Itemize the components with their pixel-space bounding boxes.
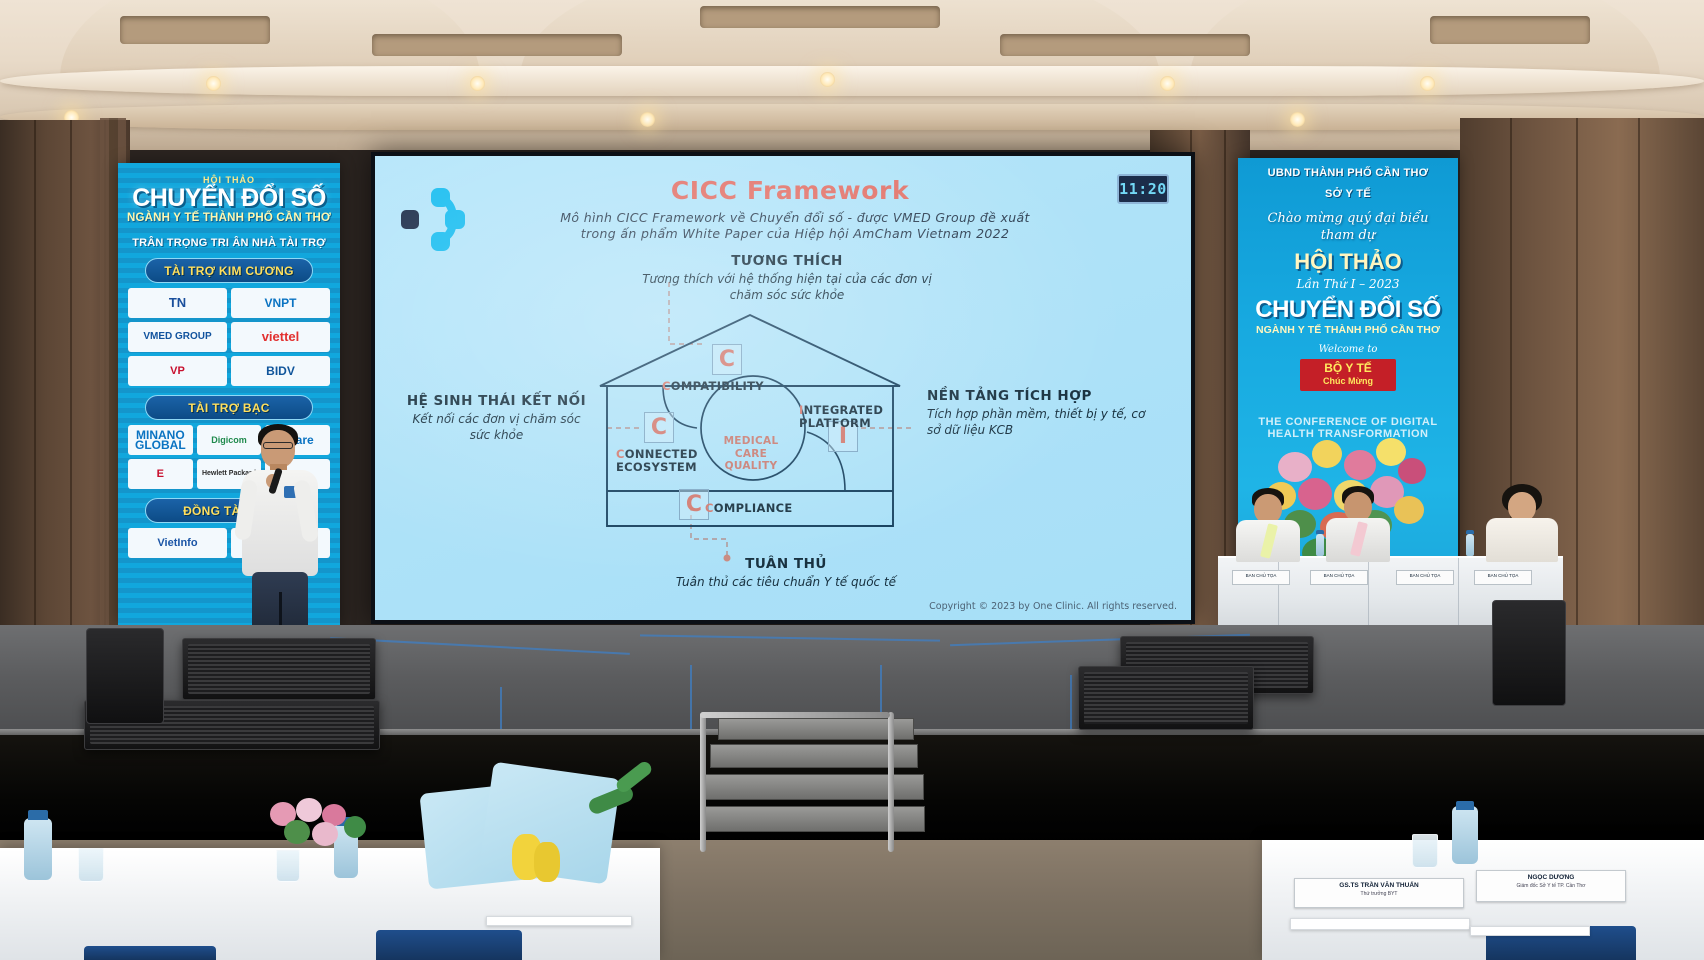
stage-monitor-right-lower <box>1078 666 1254 730</box>
label-compliance-rest: OMPLIANCE <box>714 501 793 515</box>
foreground-nameplate-sub: Giám đốc Sở Y tế TP. Cần Thơ <box>1477 882 1625 890</box>
annotation-compliance: TUÂN THỦ Tuân thủ các tiêu chuẩn Y tế qu… <box>601 556 971 590</box>
label-connected-line2: ECOSYSTEM <box>616 461 698 474</box>
projection-screen: CICC Framework Mô hình CICC Framework về… <box>371 152 1195 624</box>
banner-right-line2: SỞ Y TẾ <box>1238 188 1458 200</box>
stage-monitor-left <box>182 638 376 700</box>
sponsor-logo: VP <box>128 356 227 386</box>
annotation-integrated-body: Tích hợp phần mềm, thiết bị y tế, cơ sở … <box>927 406 1177 438</box>
banner-right-subtitle: NGÀNH Y TẾ THÀNH PHỐ CẦN THƠ <box>1238 324 1458 336</box>
annotation-integrated-body-line2: sở dữ liệu KCB <box>927 422 1177 438</box>
core-line3: QUALITY <box>710 460 792 473</box>
banner-right-title: CHUYỂN ĐỔI SỐ <box>1238 296 1458 324</box>
water-bottle <box>1316 534 1324 556</box>
stage-light-right <box>1492 600 1566 706</box>
annotation-connected-heading: HỆ SINH THÁI KẾT NỐI <box>389 393 604 409</box>
foreground-nameplate-title: GS.TS TRẦN VĂN THUẤN <box>1295 882 1463 890</box>
annotation-connected-body-line2: sức khỏe <box>389 427 604 443</box>
document-sheet <box>486 916 632 926</box>
sponsor-logo: VietInfo <box>128 528 227 558</box>
sponsor-logo: VMED GROUP <box>128 322 227 352</box>
water-bottle-cap <box>28 810 48 820</box>
annotation-compatibility-heading: TƯƠNG THÍCH <box>597 253 977 269</box>
conference-photo-scene: CICC Framework Mô hình CICC Framework về… <box>0 0 1704 960</box>
banner-right-welcome-en: Welcome to <box>1238 344 1458 355</box>
annotation-integrated-heading: NỀN TẢNG TÍCH HỢP <box>927 388 1177 404</box>
presenter <box>236 424 328 644</box>
panel-nameplate: BAN CHỦ TỌA <box>1396 570 1454 585</box>
label-connected-initial: C <box>616 447 625 461</box>
water-bottle <box>1466 534 1474 556</box>
panelist-2 <box>1324 486 1394 560</box>
house-diagram: C C I C COMPATIBILITY CONNECTED ECOSYSTE… <box>600 311 900 526</box>
label-compatibility-initial: C <box>662 379 671 393</box>
water-bottle-cap <box>1316 530 1324 534</box>
foreground-nameplate-title: NGỌC DƯƠNG <box>1477 874 1625 882</box>
ministry-of-health-badge: BỘ Y TẾ Chúc Mừng <box>1300 359 1396 391</box>
annotation-compliance-heading: TUÂN THỦ <box>601 556 971 572</box>
annotation-compatibility-body-line2: chăm sóc sức khỏe <box>597 287 977 303</box>
presenter-glasses <box>263 442 293 449</box>
sponsor-logo: MINANO GLOBAL <box>128 425 193 455</box>
annotation-compliance-body: Tuân thủ các tiêu chuẩn Y tế quốc tế <box>601 574 971 590</box>
slide-surface: CICC Framework Mô hình CICC Framework về… <box>375 156 1191 620</box>
label-compliance: COMPLIANCE <box>705 502 793 515</box>
label-integrated-platform: INTEGRATED PLATFORM <box>799 404 883 430</box>
panel-nameplate: BAN CHỦ TỌA <box>1232 570 1290 585</box>
label-compliance-initial: C <box>705 501 714 515</box>
panelist-1 <box>1234 488 1304 560</box>
water-bottle-cap <box>1456 801 1474 810</box>
label-connected-ecosystem: CONNECTED ECOSYSTEM <box>616 448 698 474</box>
gift-bouquet <box>424 764 654 882</box>
stage-steps <box>700 712 925 882</box>
sponsor-logo: E <box>128 459 193 489</box>
annotation-integrated-body-line1: Tích hợp phần mềm, thiết bị y tế, cơ <box>927 406 1177 422</box>
banner-right-welcome-line1: Chào mừng quý đại biểu <box>1238 210 1458 227</box>
label-compatibility: COMPATIBILITY <box>662 380 764 393</box>
tier-label-diamond: TÀI TRỢ KIM CƯƠNG <box>145 258 313 283</box>
banner-left-title: CHUYỂN ĐỔI SỐ <box>118 185 340 211</box>
presenter-head <box>261 430 295 468</box>
sponsor-logo: TN <box>128 288 227 318</box>
core-line1: MEDICAL <box>710 435 792 448</box>
sponsor-logo: viettel <box>231 322 330 352</box>
slide-copyright: Copyright © 2023 by One Clinic. All righ… <box>929 601 1177 612</box>
annotation-compatibility-body: Tương thích với hệ thống hiện tại của cá… <box>597 271 977 303</box>
banner-right-event: HỘI THẢO <box>1238 249 1458 275</box>
annotation-integrated-platform: NỀN TẢNG TÍCH HỢP Tích hợp phần mềm, thi… <box>927 388 1177 438</box>
annotation-connected-body-line1: Kết nối các đơn vị chăm sóc <box>389 411 604 427</box>
core-line2: CARE <box>710 448 792 461</box>
chair-left <box>376 930 522 960</box>
water-bottle <box>24 818 52 880</box>
banner-right-edition: Lần Thứ I – 2023 <box>1238 277 1458 291</box>
panel-nameplate: BAN CHỦ TỌA <box>1474 570 1532 585</box>
tier-label-silver: TÀI TRỢ BẠC <box>145 395 313 420</box>
annotation-compatibility: TƯƠNG THÍCH Tương thích với hệ thống hiệ… <box>597 253 977 303</box>
drinking-glass <box>1412 834 1438 868</box>
moh-line2: Chúc Mừng <box>1323 375 1373 388</box>
foreground-nameplate-sub: Thứ trưởng BYT <box>1295 890 1463 898</box>
foreground-nameplate: GS.TS TRẦN VĂN THUẤN Thứ trưởng BYT <box>1294 878 1464 908</box>
label-compatibility-rest: OMPATIBILITY <box>671 379 764 393</box>
ceiling <box>0 0 1704 150</box>
banner-right-welcome-line2: tham dự <box>1238 227 1458 244</box>
water-bottle-cap <box>1466 530 1474 534</box>
sponsor-logo: BIDV <box>231 356 330 386</box>
annotation-connected-ecosystem: HỆ SINH THÁI KẾT NỐI Kết nối các đơn vị … <box>389 393 604 443</box>
moh-line1: BỘ Y TẾ <box>1323 362 1373 375</box>
sponsor-grid-diamond: TN VNPT VMED GROUP viettel VP BIDV <box>118 288 340 386</box>
banner-right-line1: UBND THÀNH PHỐ CẦN THƠ <box>1238 167 1458 179</box>
drinking-glass <box>78 848 104 882</box>
stage-light-left <box>86 628 164 724</box>
label-integrated-line2: PLATFORM <box>799 417 883 430</box>
table-flower-vase <box>264 798 384 868</box>
water-bottle <box>1452 806 1478 864</box>
chair-far-left <box>84 946 216 960</box>
document-sheet <box>1290 918 1470 930</box>
badge-compatibility: C <box>712 344 742 375</box>
annotation-compatibility-body-line1: Tương thích với hệ thống hiện tại của cá… <box>597 271 977 287</box>
document-sheet <box>1470 926 1590 936</box>
label-integrated-rest: NTEGRATED <box>804 403 884 417</box>
foreground-nameplate: NGỌC DƯƠNG Giám đốc Sở Y tế TP. Cần Thơ <box>1476 870 1626 902</box>
label-core-medical-care-quality: MEDICAL CARE QUALITY <box>710 435 792 473</box>
label-connected-rest: ONNECTED <box>625 447 698 461</box>
banner-left-subtitle: NGÀNH Y TẾ THÀNH PHỐ CẦN THƠ <box>118 212 340 224</box>
annotation-connected-body: Kết nối các đơn vị chăm sóc sức khỏe <box>389 411 604 443</box>
badge-connected: C <box>644 412 674 443</box>
sponsor-logo: VNPT <box>231 288 330 318</box>
panel-nameplate: BAN CHỦ TỌA <box>1310 570 1368 585</box>
banner-left-thanks: TRÂN TRỌNG TRI ÂN NHÀ TÀI TRỢ <box>118 237 340 249</box>
panelist-3 <box>1486 484 1560 560</box>
banner-right-welcome: Chào mừng quý đại biểu tham dự <box>1238 210 1458 244</box>
